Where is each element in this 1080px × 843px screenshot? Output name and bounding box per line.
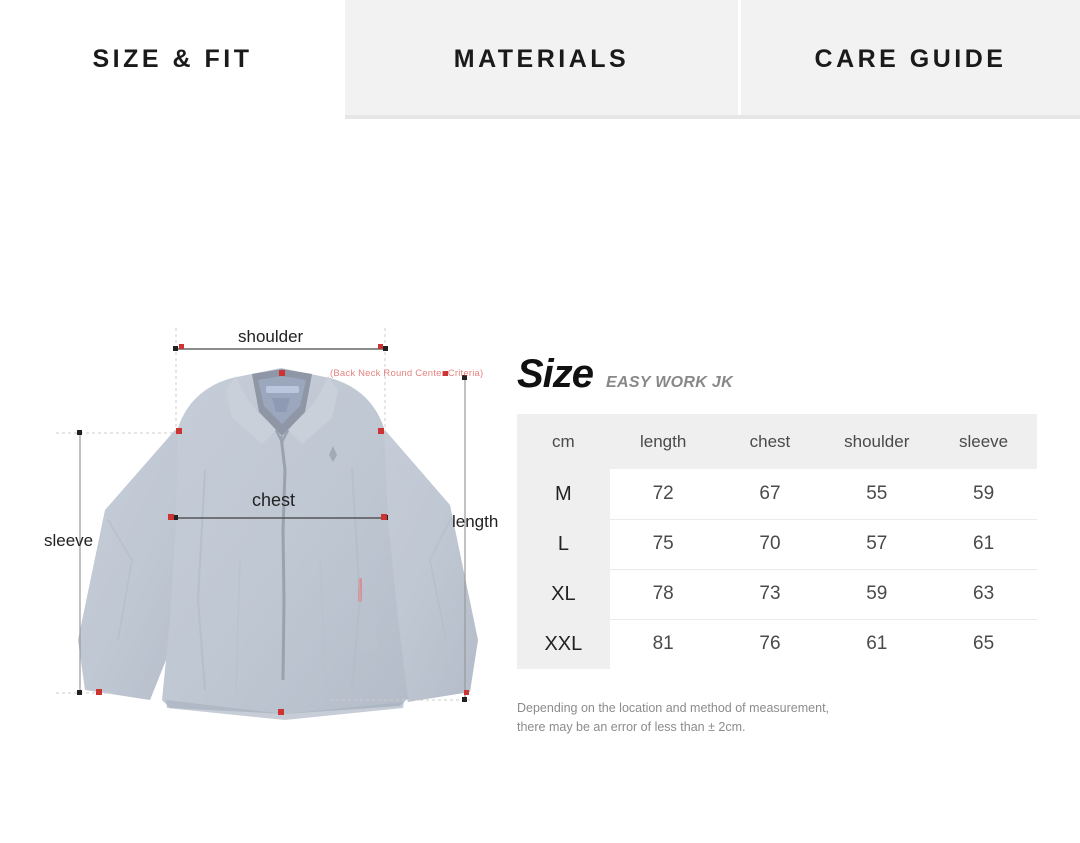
- table-row: M 72 67 55 59: [517, 469, 1037, 519]
- cell-shoulder: 61: [823, 619, 930, 669]
- cell-sleeve: 59: [930, 469, 1037, 519]
- size-chart-heading: Size EASY WORK JK: [517, 352, 1040, 396]
- size-chart-table: cm length chest shoulder sleeve M 72 67 …: [517, 414, 1037, 669]
- column-header-cm: cm: [517, 414, 610, 469]
- cell-chest: 67: [717, 469, 824, 519]
- table-header-row: cm length chest shoulder sleeve: [517, 414, 1037, 469]
- cell-shoulder: 59: [823, 569, 930, 619]
- column-header-length: length: [610, 414, 717, 469]
- jacket-brand-tag: [266, 386, 299, 393]
- cell-length: 78: [610, 569, 717, 619]
- cell-length: 75: [610, 519, 717, 569]
- dimension-label-chest: chest: [252, 490, 295, 511]
- dimension-label-shoulder: shoulder: [238, 327, 303, 347]
- cell-sleeve: 65: [930, 619, 1037, 669]
- column-header-chest: chest: [717, 414, 824, 469]
- cell-size: XXL: [517, 619, 610, 669]
- back-neck-criteria-note: (Back Neck Round Center Criteria): [330, 368, 483, 379]
- cell-size: XL: [517, 569, 610, 619]
- cell-size: M: [517, 469, 610, 519]
- table-row: L 75 70 57 61: [517, 519, 1037, 569]
- size-heading-product: EASY WORK JK: [606, 374, 733, 392]
- cell-sleeve: 61: [930, 519, 1037, 569]
- table-row: XL 78 73 59 63: [517, 569, 1037, 619]
- cell-chest: 76: [717, 619, 824, 669]
- cell-shoulder: 57: [823, 519, 930, 569]
- tab-care-guide[interactable]: CARE GUIDE: [741, 0, 1080, 118]
- cell-size: L: [517, 519, 610, 569]
- size-chart-panel: Size EASY WORK JK cm length chest should…: [517, 352, 1040, 738]
- cell-shoulder: 55: [823, 469, 930, 519]
- dimension-label-length: length: [452, 512, 498, 532]
- dimension-label-sleeve: sleeve: [44, 531, 93, 551]
- column-header-sleeve: sleeve: [930, 414, 1037, 469]
- disclaimer-line-2: there may be an error of less than ± 2cm…: [517, 718, 937, 737]
- column-header-shoulder: shoulder: [823, 414, 930, 469]
- cell-sleeve: 63: [930, 569, 1037, 619]
- size-heading-title: Size: [517, 352, 593, 397]
- cell-chest: 73: [717, 569, 824, 619]
- disclaimer-line-1: Depending on the location and method of …: [517, 699, 937, 718]
- cell-chest: 70: [717, 519, 824, 569]
- measurement-disclaimer: Depending on the location and method of …: [517, 699, 937, 738]
- cell-length: 72: [610, 469, 717, 519]
- jacket-illustration: [0, 0, 520, 760]
- table-row: XXL 81 76 61 65: [517, 619, 1037, 669]
- cell-length: 81: [610, 619, 717, 669]
